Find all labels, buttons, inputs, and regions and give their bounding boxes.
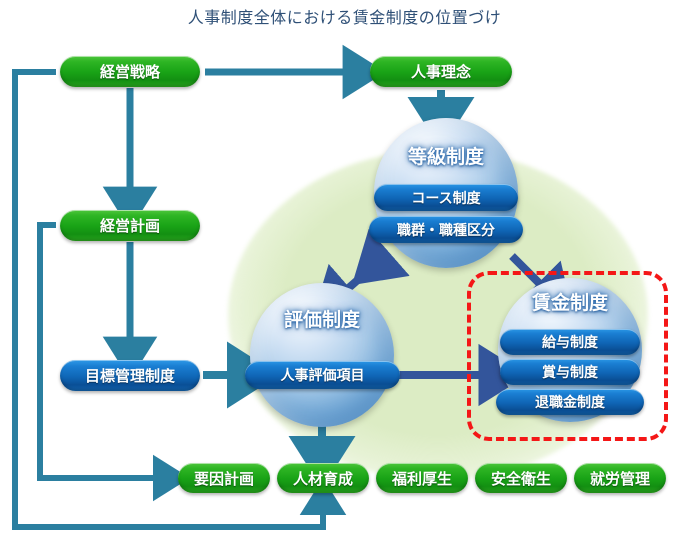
item-bonus-system[interactable]: 賞与制度 <box>500 359 640 385</box>
node-safety-health[interactable]: 安全衛生 <box>475 463 567 493</box>
node-hr-development[interactable]: 人材育成 <box>277 463 369 493</box>
item-job-group-classification[interactable]: 職群・職種区分 <box>369 216 523 243</box>
item-hr-evaluation-criteria[interactable]: 人事評価項目 <box>245 361 400 389</box>
node-welfare-benefits[interactable]: 福利厚生 <box>376 463 468 493</box>
node-hr-philosophy[interactable]: 人事理念 <box>370 56 512 87</box>
sphere-title-evaluation-system: 評価制度 <box>250 305 394 332</box>
node-labor-management[interactable]: 就労管理 <box>574 463 666 493</box>
diagram-canvas: 人事制度全体における賃金制度の位置づけ <box>0 0 689 541</box>
node-management-plan[interactable]: 経営計画 <box>60 210 200 241</box>
node-management-strategy[interactable]: 経営戦略 <box>60 56 200 87</box>
wire-feedback-plan-to-headcount <box>40 225 166 478</box>
sphere-title-wage-system: 賃金制度 <box>498 288 642 315</box>
item-salary-system[interactable]: 給与制度 <box>500 329 640 355</box>
item-course-system[interactable]: コース制度 <box>374 184 518 211</box>
sphere-title-grade-system: 等級制度 <box>374 142 518 169</box>
node-mbo-system[interactable]: 目標管理制度 <box>60 360 200 391</box>
node-headcount-plan[interactable]: 要因計画 <box>178 463 270 493</box>
item-retirement-allowance-system[interactable]: 退職金制度 <box>496 389 644 415</box>
